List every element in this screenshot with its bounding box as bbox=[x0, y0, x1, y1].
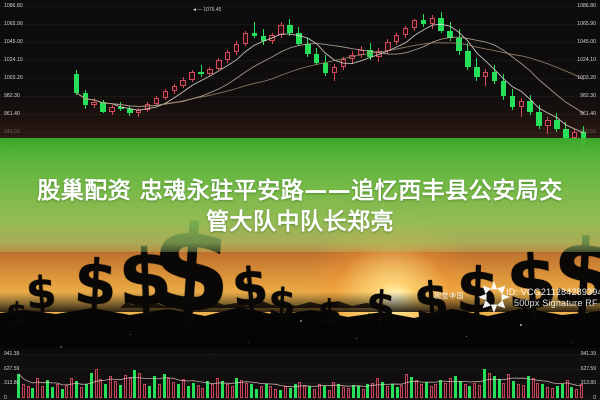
headline-block: 股巢配资 忠魂永驻平安路——追忆西丰县公安局交 管大队中队长郑亮 bbox=[0, 176, 600, 238]
volume-axis-tick-label: 627.59 bbox=[581, 366, 596, 372]
moving-average-line bbox=[76, 24, 583, 133]
price-axis-tick-label: 982.30 bbox=[580, 93, 596, 99]
dollar-sign-icon: $ bbox=[365, 285, 397, 329]
volume-axis-tick-label: 627.59 bbox=[4, 366, 19, 372]
headline-line-1: 股巢配资 忠魂永驻平安路——追忆西丰县公安局交 bbox=[0, 176, 600, 207]
watermark-cn-label: 视觉中国 bbox=[434, 291, 464, 301]
moving-average-lines bbox=[0, 0, 600, 152]
dollar-sign-icon: $ bbox=[25, 271, 59, 317]
moving-average-line bbox=[76, 43, 583, 107]
price-axis-tick-label: 1086.80 bbox=[577, 3, 596, 9]
watermark-logo-icon bbox=[476, 279, 512, 315]
price-axis-tick-label: 940.50 bbox=[580, 129, 596, 135]
price-axis-tick-label: 982.30 bbox=[4, 93, 20, 99]
volume-axis-tick-label: 0 bbox=[4, 395, 7, 400]
price-axis-tick-label: 1003.20 bbox=[4, 75, 23, 81]
watermark-license: 500px Signature RF bbox=[514, 298, 598, 308]
dollar-sign-icon: $ bbox=[267, 283, 297, 324]
volume-ma-line bbox=[18, 374, 581, 387]
dollar-sign-icon: $ bbox=[230, 261, 271, 316]
price-axis-tick-label: 961.40 bbox=[580, 111, 596, 117]
price-axis-tick-label: 1065.90 bbox=[577, 21, 596, 27]
volume-panel: 941.39627.59313.800 941.39627.59313.800 bbox=[0, 348, 600, 400]
volume-axis-tick-label: 313.80 bbox=[4, 380, 19, 386]
price-axis-tick-label: 940.50 bbox=[4, 129, 20, 135]
volume-axis-tick-label: 941.39 bbox=[4, 351, 19, 357]
headline-line-2: 管大队中队长郑亮 bbox=[0, 207, 600, 238]
price-axis-tick-label: 1003.20 bbox=[577, 75, 596, 81]
dollar-sign-icon: $ bbox=[317, 295, 342, 330]
price-axis-tick-label: 1065.90 bbox=[4, 21, 23, 27]
moving-average-line bbox=[76, 37, 583, 113]
watermark: 视觉中国 ID: VCG211284289394 500px Signature… bbox=[432, 276, 600, 320]
image-canvas: $$$$$$$$$$$$$ 1086.801065.901045.001024.… bbox=[0, 0, 600, 400]
dollar-sign-icon: $ bbox=[72, 251, 118, 315]
price-axis-tick-label: 1086.80 bbox=[4, 3, 23, 9]
dollar-sign-icon: $ bbox=[5, 300, 27, 331]
price-axis-tick-label: 961.40 bbox=[4, 111, 20, 117]
price-axis-tick-label: 1024.10 bbox=[4, 57, 23, 63]
price-axis-tick-label: 1045.00 bbox=[4, 39, 23, 45]
price-annotation: ◄— 1076.45 bbox=[192, 7, 221, 13]
volume-axis-tick-label: 941.39 bbox=[581, 351, 596, 357]
volume-axis-tick-label: 0 bbox=[593, 395, 596, 400]
volume-moving-average-line bbox=[0, 348, 600, 400]
price-axis-tick-label: 1045.00 bbox=[577, 39, 596, 45]
watermark-id: ID: VCG211284289394 bbox=[506, 287, 600, 297]
volume-axis-tick-label: 313.80 bbox=[581, 380, 596, 386]
price-candlestick-panel: 1086.801065.901045.001024.101003.20982.3… bbox=[0, 0, 600, 152]
price-axis-tick-label: 1024.10 bbox=[577, 57, 596, 63]
